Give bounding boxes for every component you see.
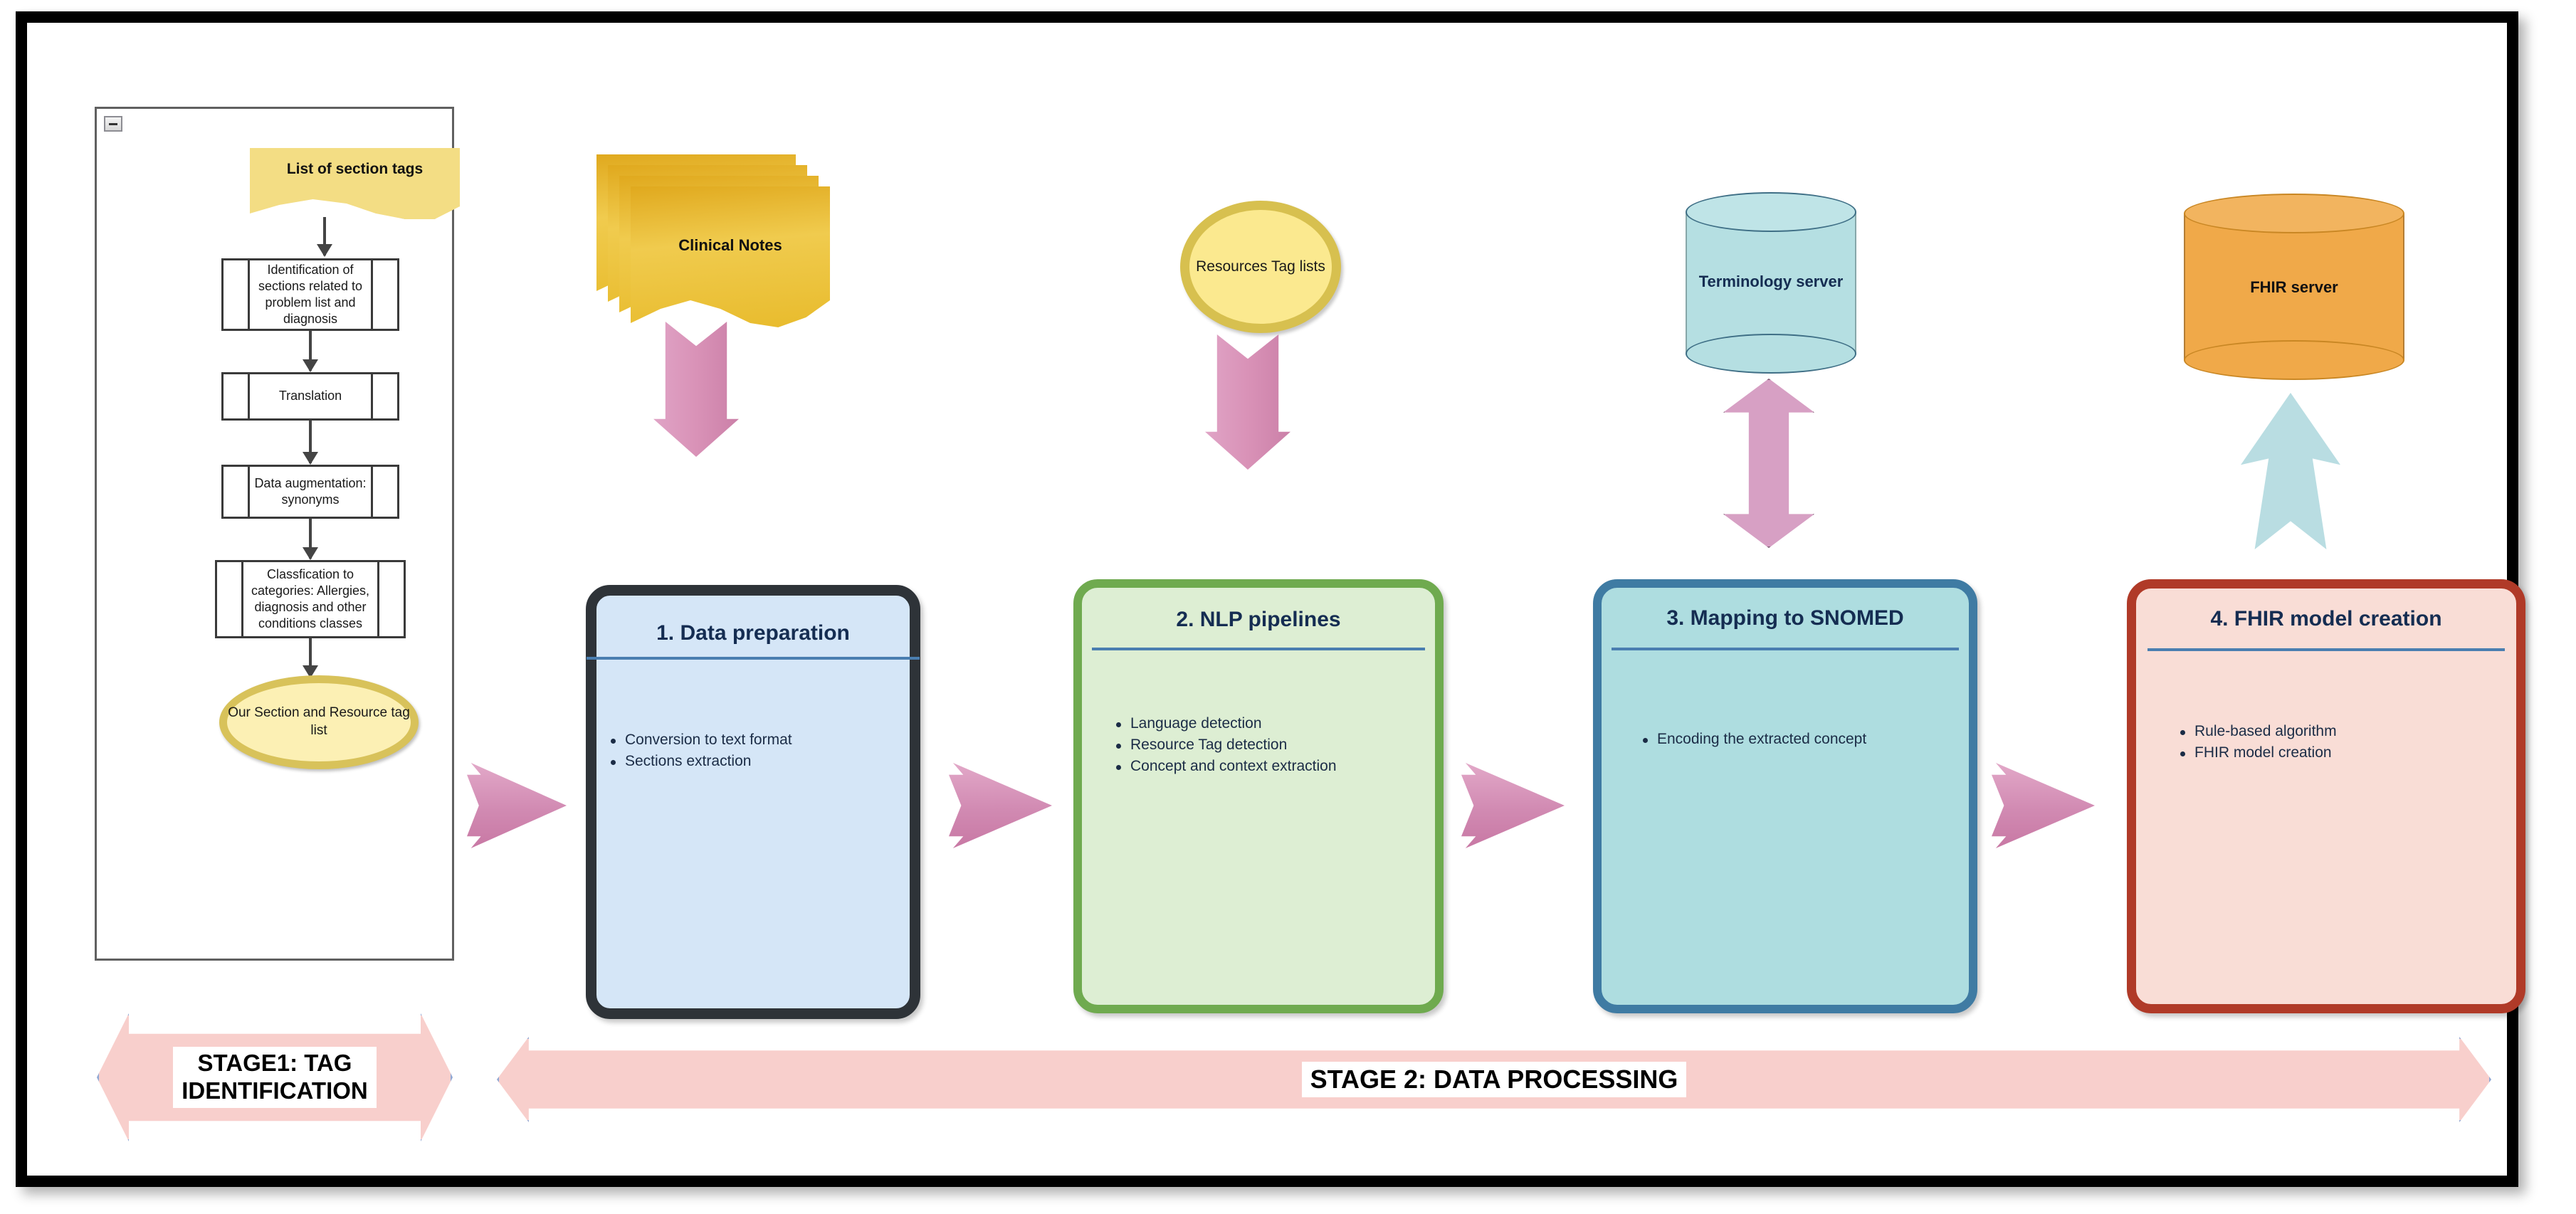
stage-banner-stage1-label: STAGE1: TAG IDENTIFICATION bbox=[173, 1047, 377, 1108]
chevron-arrow-right-card1-to-card2 bbox=[949, 763, 1052, 848]
diagram-outer-frame: List of section tags Identification of s… bbox=[16, 11, 2518, 1187]
our-section-and-resource-tag-list-label: Our Section and Resource tag list bbox=[227, 704, 411, 739]
clinical-notes-label: Clinical Notes bbox=[631, 236, 830, 255]
chevron-arrow-down-clinical-notes bbox=[653, 322, 739, 457]
flow-arrow-tags-to-step1 bbox=[323, 217, 326, 255]
stage1-step-4: Classfication to categories: Allergies, … bbox=[215, 560, 406, 638]
stage-banner-stage1: STAGE1: TAG IDENTIFICATION bbox=[97, 1013, 453, 1141]
pipeline-card-1-divider bbox=[587, 657, 920, 660]
pipeline-card-2[interactable]: 2. NLP pipelines Language detection Reso… bbox=[1073, 579, 1444, 1013]
pipeline-card-2-bullets: Language detection Resource Tag detectio… bbox=[1106, 714, 1418, 778]
minimize-icon[interactable] bbox=[104, 116, 122, 132]
stage-banner-stage2-label: STAGE 2: DATA PROCESSING bbox=[1302, 1062, 1687, 1097]
clinical-notes-sheet-1 bbox=[631, 186, 830, 329]
stage1-step-3: Data augmentation: synonyms bbox=[221, 465, 399, 519]
pipeline-card-1[interactable]: 1. Data preparation Conversion to text f… bbox=[586, 585, 920, 1019]
stage1-step-1-label: Identification of sections related to pr… bbox=[224, 262, 397, 327]
list-item: Sections extraction bbox=[625, 752, 895, 771]
stage1-step-1: Identification of sections related to pr… bbox=[221, 258, 399, 331]
clinical-notes-shape: Clinical Notes bbox=[596, 154, 846, 339]
list-item: FHIR model creation bbox=[2194, 744, 2499, 763]
pipeline-card-4-divider bbox=[2147, 648, 2505, 651]
flow-arrow-step1-to-step2 bbox=[309, 331, 312, 371]
pipeline-card-3[interactable]: 3. Mapping to SNOMED Encoding the extrac… bbox=[1593, 579, 1977, 1013]
chevron-arrow-down-resources-tag-lists bbox=[1205, 334, 1290, 470]
pipeline-card-3-bullets: Encoding the extracted concept bbox=[1633, 730, 1940, 751]
fhir-server-shape: FHIR server bbox=[2184, 194, 2404, 380]
list-item: Concept and context extraction bbox=[1130, 757, 1418, 776]
chevron-arrow-right-card3-to-card4 bbox=[1992, 763, 2095, 848]
list-item: Resource Tag detection bbox=[1130, 736, 1418, 755]
list-of-section-tags-shape: List of section tags bbox=[250, 148, 460, 219]
stage1-step-4-label: Classfication to categories: Allergies, … bbox=[217, 566, 404, 632]
chevron-arrow-right-card2-to-card3 bbox=[1461, 763, 1565, 848]
pipeline-card-2-divider bbox=[1092, 648, 1425, 650]
chevron-arrow-right-panel-to-card1 bbox=[467, 763, 567, 848]
list-item: Conversion to text format bbox=[625, 731, 895, 750]
stage1-subpanel: List of section tags Identification of s… bbox=[95, 107, 454, 961]
flow-arrow-step2-to-step3 bbox=[309, 421, 312, 463]
pipeline-card-4[interactable]: 4. FHIR model creation Rule-based algori… bbox=[2127, 579, 2525, 1013]
diagram-canvas: List of section tags Identification of s… bbox=[0, 0, 2576, 1214]
stage1-step-2: Translation bbox=[221, 372, 399, 421]
pipeline-card-1-title: 1. Data preparation bbox=[596, 621, 910, 645]
pipeline-card-2-title: 2. NLP pipelines bbox=[1082, 608, 1435, 632]
list-item: Encoding the extracted concept bbox=[1657, 730, 1940, 749]
fhir-server-label: FHIR server bbox=[2184, 278, 2404, 297]
pipeline-card-1-bullets: Conversion to text format Sections extra… bbox=[601, 731, 895, 774]
flow-arrow-step4-to-end bbox=[309, 638, 312, 677]
flow-arrow-step3-to-step4 bbox=[309, 519, 312, 559]
pipeline-card-4-title: 4. FHIR model creation bbox=[2136, 607, 2516, 631]
stage1-step-2-label: Translation bbox=[249, 388, 372, 404]
terminology-server-label: Terminology server bbox=[1686, 272, 1856, 292]
stage-banner-stage2: STAGE 2: DATA PROCESSING bbox=[497, 1037, 2491, 1122]
stage1-step-3-label: Data augmentation: synonyms bbox=[224, 475, 397, 508]
resources-tag-lists-label: Resources Tag lists bbox=[1196, 257, 1325, 276]
our-section-and-resource-tag-list-shape: Our Section and Resource tag list bbox=[219, 675, 419, 769]
pipeline-card-3-title: 3. Mapping to SNOMED bbox=[1602, 606, 1969, 630]
resources-tag-lists-shape: Resources Tag lists bbox=[1180, 201, 1341, 333]
double-headed-arrow-terminology bbox=[1723, 379, 1814, 548]
list-item: Rule-based algorithm bbox=[2194, 722, 2499, 741]
list-item: Language detection bbox=[1130, 714, 1418, 734]
pipeline-card-3-divider bbox=[1612, 648, 1959, 650]
terminology-server-shape: Terminology server bbox=[1686, 192, 1856, 374]
notched-arrow-up-fhir bbox=[2241, 393, 2340, 549]
list-of-section-tags-label: List of section tags bbox=[287, 161, 423, 178]
pipeline-card-4-bullets: Rule-based algorithm FHIR model creation bbox=[2170, 722, 2499, 765]
